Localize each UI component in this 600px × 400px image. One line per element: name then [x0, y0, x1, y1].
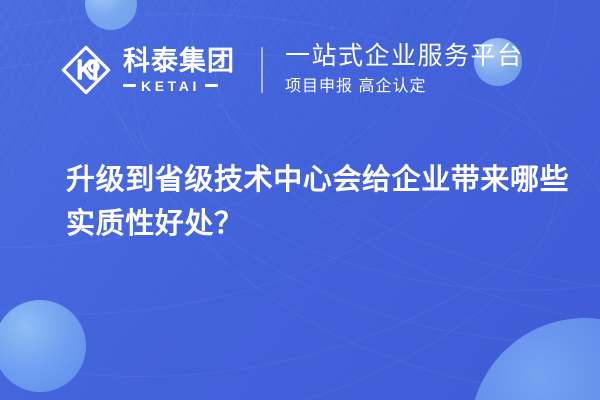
brand-text-block: 科泰集团 KETAI	[123, 47, 235, 92]
banner-header: 科泰集团 KETAI 一站式企业服务平台 项目申报 高企认定	[0, 0, 600, 140]
tagline-secondary: 项目申报 高企认定	[285, 76, 524, 98]
tagline-block: 一站式企业服务平台 项目申报 高企认定	[285, 42, 524, 97]
brand-rule-left-icon	[123, 84, 136, 87]
decor-glow-bottom-right	[470, 318, 600, 400]
decor-circle-bottom-left	[0, 300, 86, 392]
header-divider	[261, 47, 263, 93]
ketai-diamond-monogram-logo	[60, 44, 112, 96]
brand-lockup: 科泰集团 KETAI	[60, 41, 235, 99]
brand-name-cn: 科泰集团	[123, 47, 235, 75]
brand-name-en: KETAI	[141, 79, 200, 93]
brand-name-en-row: KETAI	[123, 79, 235, 93]
promo-banner: 科泰集团 KETAI 一站式企业服务平台 项目申报 高企认定 升级到省级技术中心…	[0, 0, 600, 400]
brand-rule-right-icon	[205, 84, 218, 87]
page-title: 升级到省级技术中心会给企业带来哪些实质性好处？	[66, 158, 578, 246]
tagline-primary: 一站式企业服务平台	[285, 42, 524, 72]
